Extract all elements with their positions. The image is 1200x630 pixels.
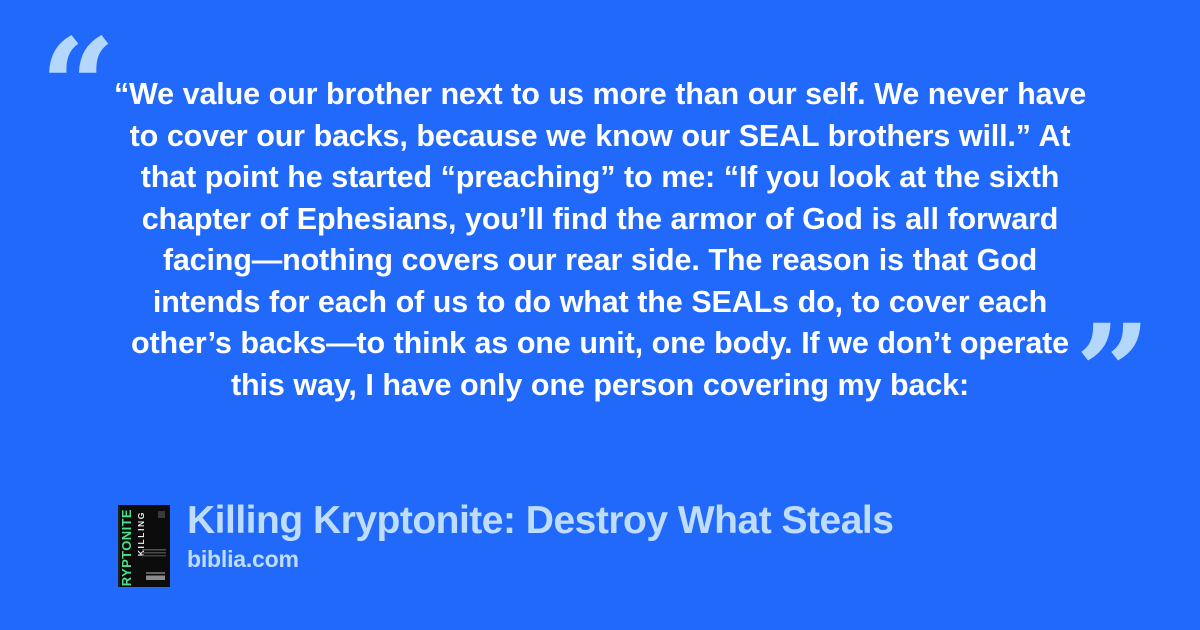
book-title[interactable]: Killing Kryptonite: Destroy What Steals xyxy=(187,498,893,544)
quote-text: “We value our brother next to us more th… xyxy=(108,74,1092,406)
book-cover-author-mark xyxy=(146,572,165,580)
book-cover-blurb-lines xyxy=(142,549,166,558)
book-cover-title-kryptonite: KRYPTONITE xyxy=(120,509,133,587)
attribution-footer: KRYPTONITE KILLING Killing Kryptonite: D… xyxy=(118,498,893,587)
footer-text-group: Killing Kryptonite: Destroy What Steals … xyxy=(187,498,893,573)
site-name[interactable]: biblia.com xyxy=(187,546,893,573)
opening-quote-icon: “ xyxy=(40,22,114,154)
quote-card: “ “We value our brother next to us more … xyxy=(0,0,1200,630)
closing-quote-icon: ” xyxy=(1075,308,1149,440)
book-cover-badge-icon xyxy=(158,511,165,518)
book-cover-thumbnail[interactable]: KRYPTONITE KILLING xyxy=(118,505,170,587)
quote-block: “We value our brother next to us more th… xyxy=(108,74,1092,406)
